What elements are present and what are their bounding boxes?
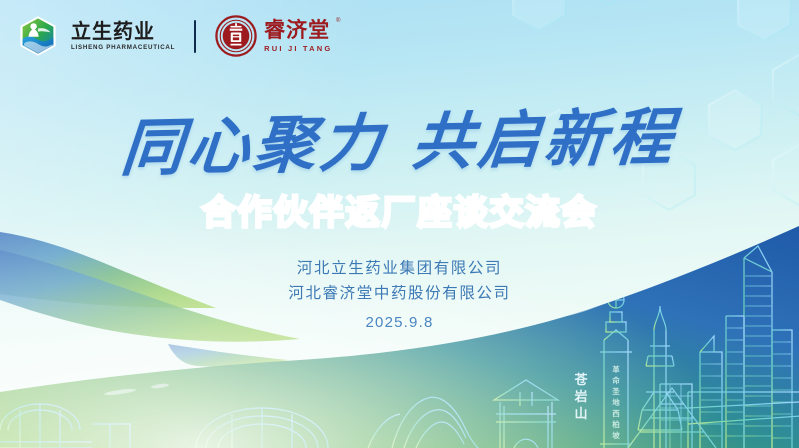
primary-logo-name-en: LISHENG PHARMACEUTICAL	[71, 44, 175, 51]
secondary-logo-name-cn: 睿济堂	[264, 19, 332, 41]
circular-seal-icon	[215, 15, 257, 57]
company-names: 河北立生药业集团有限公司 河北睿济堂中药股份有限公司	[0, 256, 799, 306]
pagoda-gate-outline	[492, 380, 560, 448]
svg-text:柏: 柏	[612, 419, 620, 429]
svg-text:革: 革	[612, 364, 620, 374]
svg-text:岩: 岩	[573, 389, 587, 405]
company-line-1: 河北立生药业集团有限公司	[0, 256, 799, 281]
svg-text:地: 地	[612, 397, 620, 407]
secondary-logo-name-en: RUI JI TANG	[264, 44, 332, 53]
landmark-labels: 苍 岩 山 革 命 圣 地 西 柏 坡	[573, 364, 620, 440]
headline-part-1: 同心聚力	[118, 106, 389, 185]
headline-title: 同心聚力共启新程	[0, 84, 799, 191]
stadium-outline	[186, 408, 340, 448]
layered-mountains-outline	[368, 397, 478, 448]
svg-text:命: 命	[611, 375, 620, 385]
poster-canvas: 苍 岩 山 革 命 圣 地 西 柏 坡	[0, 0, 799, 448]
svg-text:山: 山	[574, 406, 587, 422]
label-xibaipo-monument: 革 命 圣 地 西 柏 坡	[611, 364, 620, 440]
secondary-logo-text: 睿济堂 ® RUI JI TANG	[264, 19, 332, 52]
registered-mark-icon: ®	[336, 18, 340, 24]
logo-divider	[194, 20, 196, 53]
city-blocks-outline	[660, 384, 692, 448]
label-cangyan-mountain: 苍	[573, 372, 588, 388]
primary-logo-name-cn: 立生药业	[71, 21, 175, 42]
logo-bar: 立生药业 LISHENG PHARMACEUTICAL	[16, 14, 332, 58]
svg-text:圣: 圣	[611, 387, 620, 396]
svg-text:西: 西	[612, 409, 620, 418]
company-line-2: 河北睿济堂中药股份有限公司	[0, 281, 799, 306]
event-date: 2025.9.8	[0, 314, 799, 331]
subtitle-text: 合作伙伴返厂座谈交流会	[202, 185, 598, 234]
secondary-logo: 睿济堂 ® RUI JI TANG	[215, 15, 332, 57]
headline-part-2: 共启新程	[409, 100, 680, 179]
mountain-leaf-logo-icon	[16, 14, 60, 58]
subtitle-wrapper: 合作伙伴返厂座谈交流会	[0, 185, 799, 234]
stepped-pyramid-outline	[628, 388, 716, 448]
primary-logo-text: 立生药业 LISHENG PHARMACEUTICAL	[71, 21, 175, 51]
svg-text:坡: 坡	[612, 430, 620, 440]
left-building-outline	[0, 404, 130, 448]
